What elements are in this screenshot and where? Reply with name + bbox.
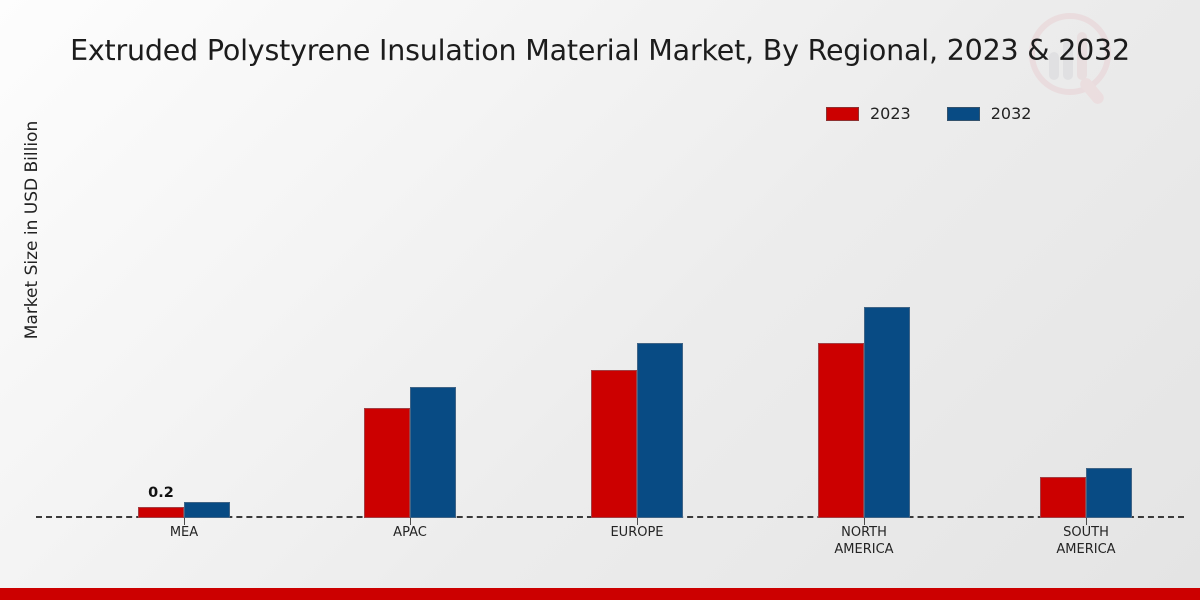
chart-figure: Extruded Polystyrene Insulation Material… — [0, 0, 1200, 600]
x-axis-label-line: MEA — [170, 524, 198, 541]
legend-swatch-2032-icon — [947, 107, 980, 121]
legend-label-2032: 2032 — [991, 104, 1032, 123]
bar-group: 0.2MEA — [89, 140, 279, 518]
x-axis-label-line: SOUTH — [1056, 524, 1115, 541]
bar-pair — [542, 140, 732, 518]
bar-group: EUROPE — [542, 140, 732, 518]
bar-pair — [769, 140, 959, 518]
bar-2032-apac[interactable] — [410, 387, 456, 518]
x-axis-label-line: AMERICA — [834, 541, 893, 558]
legend-item-2023[interactable]: 2023 — [826, 104, 911, 123]
bar-2023-mea[interactable] — [138, 507, 184, 518]
x-axis-label-line: EUROPE — [610, 524, 663, 541]
x-axis-label-south-america: SOUTHAMERICA — [1056, 524, 1115, 558]
bar-2023-north-america[interactable] — [818, 343, 864, 518]
x-axis-label-europe: EUROPE — [610, 524, 663, 541]
bar-pair — [991, 140, 1181, 518]
legend-label-2023: 2023 — [870, 104, 911, 123]
legend-item-2032[interactable]: 2032 — [947, 104, 1032, 123]
bar-2032-mea[interactable] — [184, 502, 230, 518]
bar-group: NORTHAMERICA — [769, 140, 959, 518]
bar-2032-europe[interactable] — [637, 343, 683, 518]
bar-pair — [315, 140, 505, 518]
x-axis-label-mea: MEA — [170, 524, 198, 541]
bar-pair — [89, 140, 279, 518]
bottom-accent-bar — [0, 588, 1200, 600]
x-axis-label-apac: APAC — [393, 524, 427, 541]
bar-2023-apac[interactable] — [364, 408, 410, 518]
plot-area: 0.2MEAAPACEUROPENORTHAMERICASOUTHAMERICA — [36, 140, 1184, 518]
chart-legend: 2023 2032 — [826, 104, 1031, 123]
bar-group: APAC — [315, 140, 505, 518]
bar-2032-south-america[interactable] — [1086, 468, 1132, 518]
bar-2023-south-america[interactable] — [1040, 477, 1086, 518]
bar-group: SOUTHAMERICA — [991, 140, 1181, 518]
bar-2032-north-america[interactable] — [864, 307, 910, 518]
x-axis-label-line: APAC — [393, 524, 427, 541]
x-axis-label-north-america: NORTHAMERICA — [834, 524, 893, 558]
bar-2023-europe[interactable] — [591, 370, 637, 518]
x-axis-label-line: AMERICA — [1056, 541, 1115, 558]
x-axis-label-line: NORTH — [834, 524, 893, 541]
chart-title: Extruded Polystyrene Insulation Material… — [0, 34, 1200, 67]
legend-swatch-2023-icon — [826, 107, 859, 121]
